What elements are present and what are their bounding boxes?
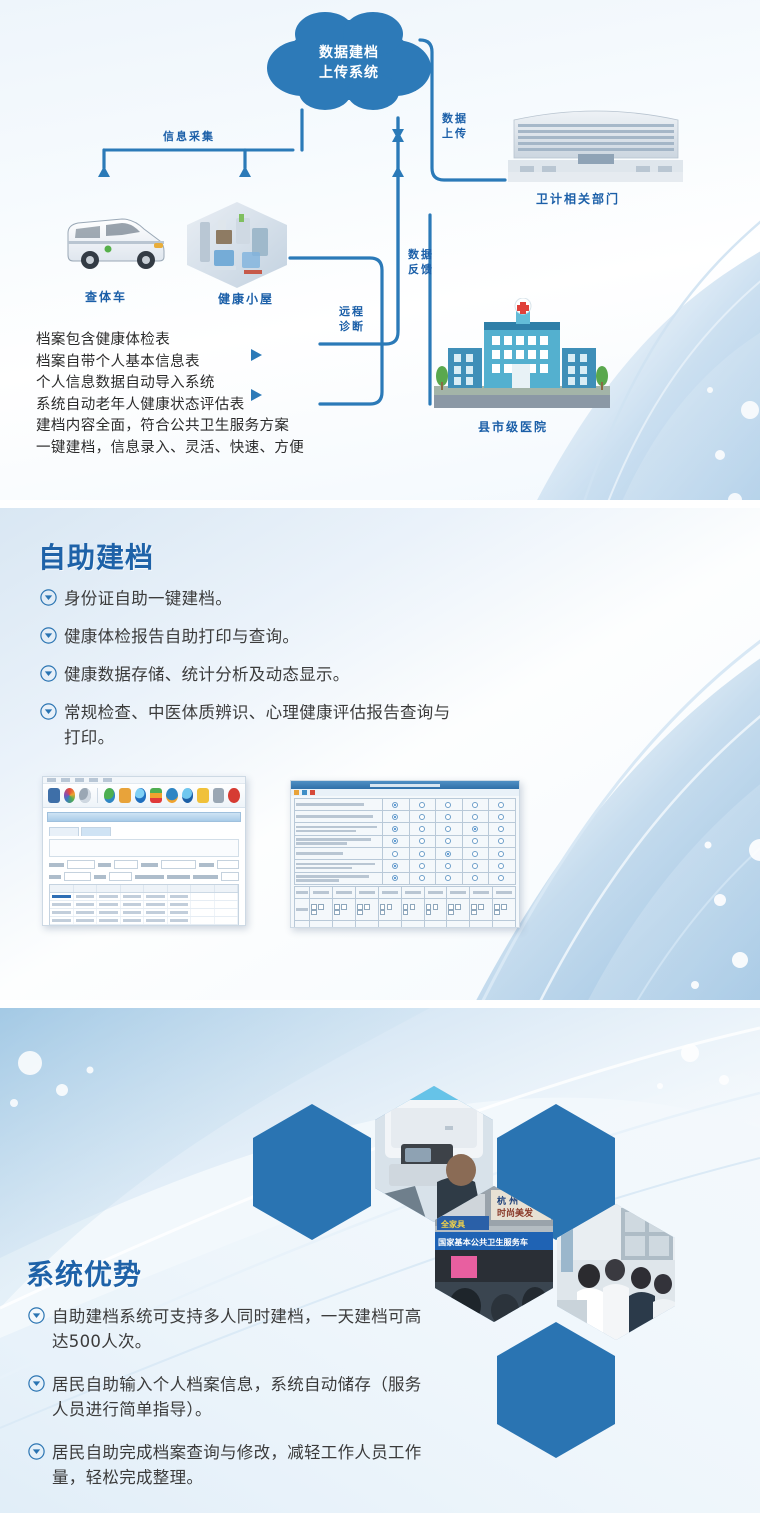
section2-bullet-list: 身份证自助一键建档。 健康体检报告自助打印与查询。 健康数据存储、统计分析及动态… bbox=[40, 586, 490, 763]
table-row bbox=[50, 909, 238, 917]
assessment-table bbox=[294, 798, 516, 885]
table-row bbox=[295, 921, 516, 929]
chevron-down-circle-icon bbox=[28, 1307, 45, 1329]
section-self-service-filing: 自助建档 身份证自助一键建档。 健康体检报告自助打印与查询。 健康数据存储、统计… bbox=[0, 508, 760, 1000]
list-item: 健康体检报告自助打印与查询。 bbox=[40, 624, 490, 649]
table-row bbox=[295, 811, 516, 823]
exam-vehicle-image bbox=[60, 205, 170, 275]
table-row bbox=[50, 917, 238, 925]
chevron-down-circle-icon bbox=[40, 665, 57, 687]
list-item: 居民自助输入个人档案信息，系统自动储存（服务人员进行简单指导）。 bbox=[28, 1372, 448, 1422]
window-toolbar[interactable] bbox=[43, 784, 245, 808]
table-row bbox=[295, 860, 516, 873]
list-item-text: 自助建档系统可支持多人同时建档，一天建档可高达500人次。 bbox=[52, 1304, 434, 1354]
list-item-text: 健康数据存储、统计分析及动态显示。 bbox=[64, 662, 350, 687]
section-flow-diagram: 数据建档 上传系统 信息采集 数据 上传 数据 反馈 远程 诊断 bbox=[0, 0, 760, 500]
cloud-label: 数据建档 上传系统 bbox=[263, 42, 435, 82]
table-row bbox=[295, 848, 516, 860]
table-row bbox=[295, 899, 516, 921]
list-item: 身份证自助一键建档。 bbox=[40, 586, 490, 611]
cloud-node: 数据建档 上传系统 bbox=[263, 8, 435, 118]
toolbar-icon-search[interactable] bbox=[79, 788, 91, 803]
table-row bbox=[295, 799, 516, 811]
list-item-text: 常规检查、中医体质辨识、心理健康评估报告查询与打印。 bbox=[64, 700, 464, 750]
elderly-health-assessment-form[interactable] bbox=[290, 780, 520, 928]
toolbar-icon-user[interactable] bbox=[197, 788, 209, 803]
flow-diagram: 数据建档 上传系统 信息采集 数据 上传 数据 反馈 远程 诊断 bbox=[0, 0, 760, 500]
feature-list: 档案包含健康体检表 档案自带个人基本信息表 个人信息数据自动导入系统 系统自动老… bbox=[36, 330, 436, 459]
list-item-text: 身份证自助一键建档。 bbox=[64, 586, 232, 611]
feature-item: 档案包含健康体检表 bbox=[36, 330, 436, 352]
chevron-down-circle-icon bbox=[28, 1375, 45, 1397]
svg-text:时尚美发: 时尚美发 bbox=[497, 1207, 534, 1219]
feature-item: 建档内容全面，符合公共卫生服务方案 bbox=[36, 416, 436, 438]
cloud-label-line1: 数据建档 bbox=[263, 42, 435, 62]
toolbar-icon-card-reader[interactable] bbox=[48, 788, 60, 803]
chevron-down-circle-icon bbox=[40, 627, 57, 649]
toolbar-icon-archive[interactable] bbox=[64, 788, 76, 803]
feature-item: 一键建档，信息录入、灵活、快速、方便 bbox=[36, 438, 436, 460]
tab-strip[interactable] bbox=[49, 827, 239, 836]
feature-item: 档案自带个人基本信息表 bbox=[36, 352, 436, 374]
form-window-titlebar bbox=[291, 781, 519, 789]
toolbar-icon-report[interactable] bbox=[104, 788, 116, 803]
table-row bbox=[50, 901, 238, 909]
node-label-county-hospital: 县市级医院 bbox=[478, 418, 548, 435]
table-row bbox=[295, 887, 516, 899]
window-menubar[interactable] bbox=[43, 777, 245, 784]
form-toolbar[interactable] bbox=[291, 789, 519, 796]
section-system-advantages: 杭 州 时尚美发 全家具 国家基本公共卫生服务车 bbox=[0, 1008, 760, 1513]
table-row bbox=[295, 823, 516, 836]
chevron-down-circle-icon bbox=[28, 1443, 45, 1465]
filter-panel[interactable] bbox=[49, 839, 239, 857]
flow-label-data-upload: 数据 上传 bbox=[442, 112, 468, 142]
tab-archive-query[interactable] bbox=[81, 827, 111, 836]
toolbar-icon-form[interactable] bbox=[119, 788, 131, 803]
health-dept-building-image bbox=[508, 100, 683, 182]
svg-text:国家基本公共卫生服务车: 国家基本公共卫生服务车 bbox=[438, 1237, 528, 1247]
section3-title: 系统优势 bbox=[26, 1253, 142, 1293]
chevron-down-circle-icon bbox=[40, 589, 57, 611]
health-cabin-image bbox=[182, 200, 292, 290]
list-item-text: 居民自助输入个人档案信息，系统自动储存（服务人员进行简单指导）。 bbox=[52, 1372, 434, 1422]
node-label-health-cabin: 健康小屋 bbox=[218, 290, 274, 307]
toolbar-icon-device[interactable] bbox=[166, 788, 178, 803]
node-label-exam-vehicle: 查体车 bbox=[85, 288, 127, 305]
poster-page: 数据建档 上传系统 信息采集 数据 上传 数据 反馈 远程 诊断 bbox=[0, 0, 760, 1513]
flow-label-data-feedback: 数据 反馈 bbox=[408, 248, 434, 278]
cloud-label-line2: 上传系统 bbox=[263, 62, 435, 82]
table-header bbox=[50, 885, 238, 893]
county-hospital-image bbox=[432, 298, 612, 413]
form-row[interactable] bbox=[49, 860, 239, 869]
table-row bbox=[50, 893, 238, 901]
section3-bullet-list: 自助建档系统可支持多人同时建档，一天建档可高达500人次。 居民自助输入个人档案… bbox=[28, 1304, 448, 1503]
inner-window-titlebar bbox=[47, 812, 241, 822]
table-row bbox=[295, 872, 516, 885]
archive-management-window[interactable] bbox=[42, 776, 246, 926]
tab-basic-info[interactable] bbox=[49, 827, 79, 836]
list-item: 居民自助完成档案查询与修改，减轻工作人员工作量，轻松完成整理。 bbox=[28, 1440, 448, 1490]
list-item-text: 居民自助完成档案查询与修改，减轻工作人员工作量，轻松完成整理。 bbox=[52, 1440, 434, 1490]
assessment-table-wrap[interactable] bbox=[291, 796, 519, 928]
toolbar-icon-sync[interactable] bbox=[135, 788, 147, 803]
results-table[interactable] bbox=[49, 884, 239, 926]
list-item-text: 健康体检报告自助打印与查询。 bbox=[64, 624, 299, 649]
node-label-health-dept: 卫计相关部门 bbox=[536, 190, 620, 207]
chevron-down-circle-icon bbox=[40, 703, 57, 725]
toolbar-icon-settings[interactable] bbox=[182, 788, 194, 803]
feature-item: 系统自动老年人健康状态评估表 bbox=[36, 395, 436, 417]
feature-item: 个人信息数据自动导入系统 bbox=[36, 373, 436, 395]
form-row[interactable] bbox=[49, 872, 239, 881]
hex-solid-1 bbox=[253, 1104, 371, 1240]
svg-text:全家具: 全家具 bbox=[440, 1219, 465, 1229]
table-row bbox=[50, 925, 238, 926]
list-item: 健康数据存储、统计分析及动态显示。 bbox=[40, 662, 490, 687]
toolbar-icon-exit[interactable] bbox=[228, 788, 240, 803]
section2-title: 自助建档 bbox=[38, 536, 154, 576]
constitution-table bbox=[294, 886, 516, 928]
table-row bbox=[295, 835, 516, 848]
list-item: 自助建档系统可支持多人同时建档，一天建档可高达500人次。 bbox=[28, 1304, 448, 1354]
toolbar-icon-statistics[interactable] bbox=[150, 788, 162, 803]
list-item: 常规检查、中医体质辨识、心理健康评估报告查询与打印。 bbox=[40, 700, 490, 750]
toolbar-icon-tools[interactable] bbox=[213, 788, 225, 803]
flow-label-info-collect: 信息采集 bbox=[163, 130, 215, 145]
